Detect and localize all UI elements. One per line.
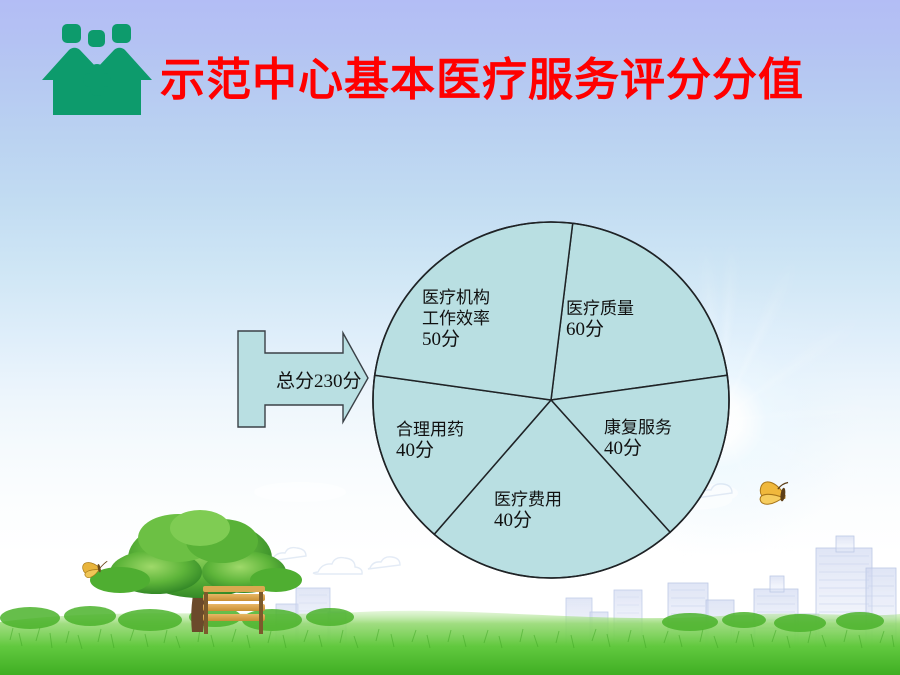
pie-chart-figure: 总分230分 医疗质量 60分 康复服务 40分 医疗费用 40分 合理用药 4… [0,0,900,675]
pie-slice-institution-work-efficiency[interactable] [375,222,573,400]
pie-slice-medical-quality[interactable] [551,223,727,400]
slide-canvas: 示范中心基本医疗服务评分分值 总分230分 医疗质量 60分 [0,0,900,675]
total-score-label: 总分230分 [276,366,362,393]
